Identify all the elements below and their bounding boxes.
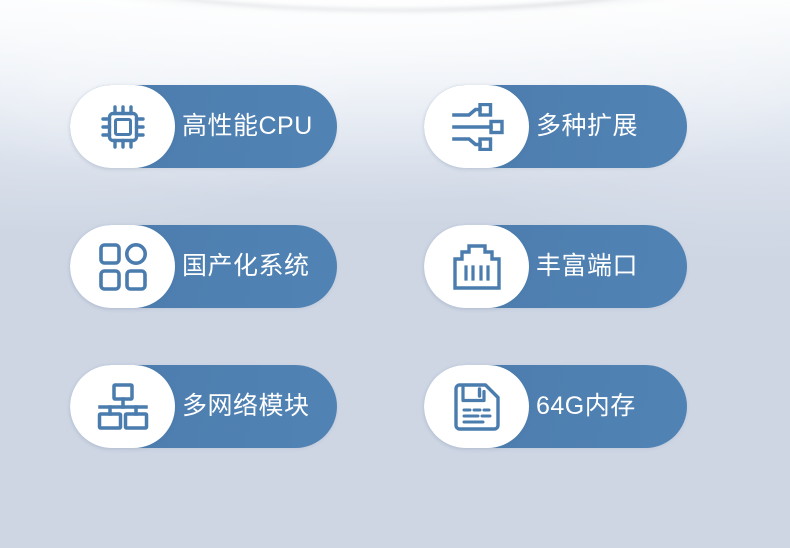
feature-label: 高性能CPU [182,114,313,139]
circuit-expansion-icon [424,85,529,168]
app-grid-icon [70,225,175,308]
feature-cell: 多种扩展 [337,85,790,225]
feature-cell: 多网络模块 [0,365,337,505]
cpu-chip-icon [70,85,175,168]
feature-cell: 丰富端口 [337,225,790,365]
feature-pill-ports[interactable]: 丰富端口 [424,225,687,308]
feature-pill-network[interactable]: 多网络模块 [70,365,337,448]
feature-pill-os[interactable]: 国产化系统 [70,225,337,308]
feature-label: 国产化系统 [182,254,310,279]
ethernet-port-icon [424,225,529,308]
feature-pill-cpu[interactable]: 高性能CPU [70,85,337,168]
feature-cell: 高性能CPU [0,85,337,225]
feature-pill-memory[interactable]: 64G内存 [424,365,687,448]
feature-cell: 国产化系统 [0,225,337,365]
network-topology-icon [70,365,175,448]
feature-pill-expansion[interactable]: 多种扩展 [424,85,687,168]
feature-cell: 64G内存 [337,365,790,505]
feature-grid: 高性能CPU 多种扩展 [0,0,790,548]
feature-label: 丰富端口 [536,254,638,279]
feature-label: 多种扩展 [536,114,638,139]
feature-label: 多网络模块 [182,394,310,419]
memory-disk-icon [424,365,529,448]
feature-label: 64G内存 [536,394,636,419]
